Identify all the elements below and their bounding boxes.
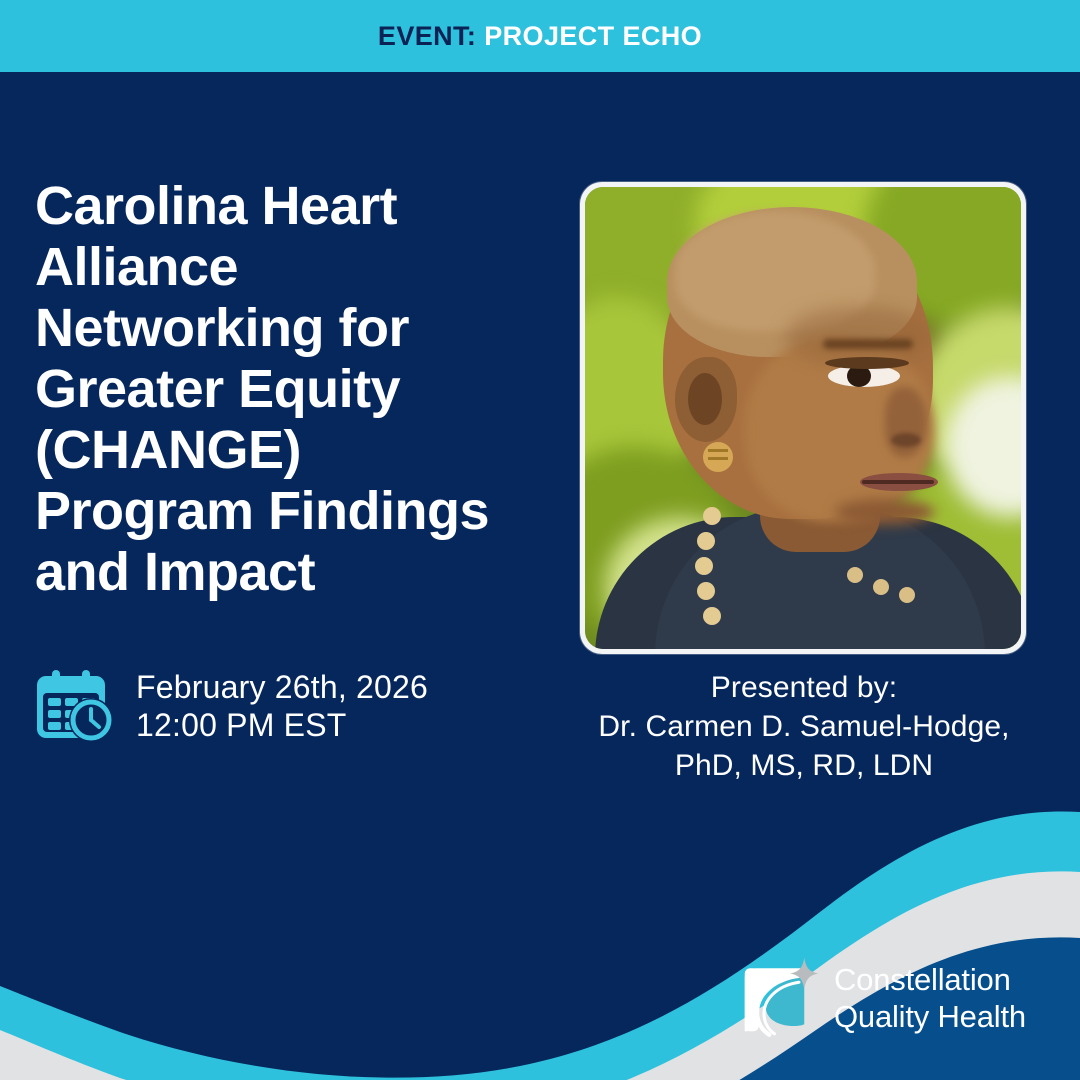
event-date: February 26th, 2026 <box>136 668 428 706</box>
presenter-prefix: Presented by: <box>548 668 1060 707</box>
presenter-name: Dr. Carmen D. Samuel-Hodge, <box>548 707 1060 746</box>
event-datetime-text: February 26th, 2026 12:00 PM EST <box>136 668 428 744</box>
event-datetime: February 26th, 2026 12:00 PM EST <box>34 668 428 744</box>
presenter-photo-frame <box>580 182 1026 654</box>
title-line: (CHANGE) <box>35 420 555 481</box>
presenter-credentials: PhD, MS, RD, LDN <box>548 746 1060 785</box>
presenter-subject <box>585 187 1021 649</box>
title-line: and Impact <box>35 542 555 603</box>
event-ribbon: EVENT: PROJECT ECHO <box>0 0 1080 72</box>
event-promo-poster: EVENT: PROJECT ECHO Carolina Heart Allia… <box>0 0 1080 1080</box>
presenter-credit: Presented by: Dr. Carmen D. Samuel-Hodge… <box>548 668 1060 785</box>
title-line: Networking for <box>35 298 555 359</box>
brand-wordmark: Constellation Quality Health <box>834 961 1026 1035</box>
page-title: Carolina Heart Alliance Networking for G… <box>35 176 555 603</box>
presenter-photo <box>585 187 1021 649</box>
event-ribbon-value: PROJECT ECHO <box>484 21 702 51</box>
event-ribbon-label: EVENT: <box>378 21 484 51</box>
title-line: Program Findings <box>35 481 555 542</box>
calendar-clock-icon <box>34 668 116 744</box>
event-time: 12:00 PM EST <box>136 706 428 744</box>
brand-logo: Constellation Quality Health <box>736 956 1026 1040</box>
brand-line-1: Constellation <box>834 961 1026 998</box>
title-line: Greater Equity <box>35 359 555 420</box>
event-ribbon-text: EVENT: PROJECT ECHO <box>378 21 702 52</box>
brand-line-2: Quality Health <box>834 998 1026 1035</box>
title-line: Alliance <box>35 237 555 298</box>
constellation-c-mark-icon <box>736 956 820 1040</box>
title-line: Carolina Heart <box>35 176 555 237</box>
